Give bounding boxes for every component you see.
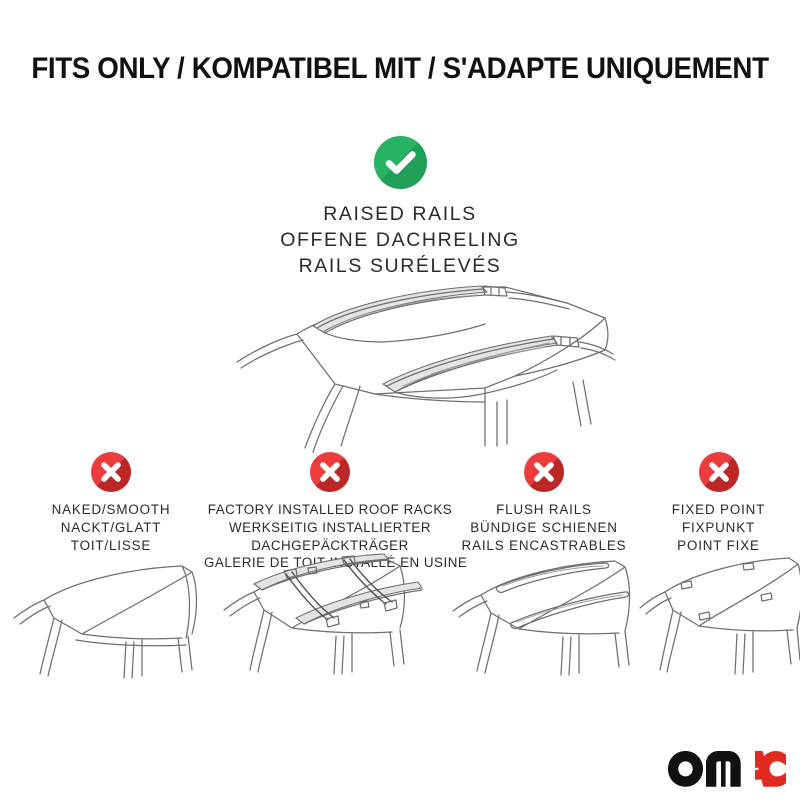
label-en: FLUSH RAILS (449, 501, 639, 519)
compatible-labels: RAISED RAILS OFFENE DACHRELING RAILS SUR… (0, 202, 800, 280)
label-fr: RAILS ENCASTRABLES (449, 537, 639, 555)
label-de: BÜNDIGE SCHIENEN (449, 519, 639, 537)
incompatible-item-naked-smooth: NAKED/SMOOTH NACKT/GLATT TOIT/LISSE (6, 452, 216, 554)
check-circle-icon (374, 136, 427, 189)
label-en: NAKED/SMOOTH (6, 501, 216, 519)
car-roof-flush-rails-illustration (449, 555, 639, 677)
incompatible-item-fixed-point: FIXED POINT FIXPUNKT POINT FIXE (637, 452, 800, 554)
x-circle-icon (310, 452, 350, 492)
x-circle-icon (91, 452, 131, 492)
page-title: FITS ONLY / KOMPATIBEL MIT / S'ADAPTE UN… (24, 52, 776, 86)
incompatible-item-factory-installed-roof-racks: FACTORY INSTALLED ROOF RACKS WERKSEITIG … (204, 452, 456, 572)
x-circle-icon (524, 452, 564, 492)
compatible-label-de: OFFENE DACHRELING (0, 228, 800, 254)
x-circle-icon (699, 452, 739, 492)
incompatible-section: NAKED/SMOOTH NACKT/GLATT TOIT/LISSE (0, 452, 800, 692)
compatible-label-en: RAISED RAILS (0, 202, 800, 228)
label-de-1: WERKSEITIG INSTALLIERTER (204, 519, 456, 537)
car-roof-smooth-illustration (6, 560, 216, 680)
label-de: FIXPUNKT (637, 519, 800, 537)
label-fr: TOIT/LISSE (6, 537, 216, 555)
incompatible-labels: FLUSH RAILS BÜNDIGE SCHIENEN RAILS ENCAS… (449, 501, 639, 554)
label-de: NACKT/GLATT (6, 519, 216, 537)
incompatible-item-flush-rails: FLUSH RAILS BÜNDIGE SCHIENEN RAILS ENCAS… (449, 452, 639, 554)
compatible-section: RAISED RAILS OFFENE DACHRELING RAILS SUR… (0, 136, 800, 280)
omac-logo (666, 749, 788, 789)
incompatible-labels: NAKED/SMOOTH NACKT/GLATT TOIT/LISSE (6, 501, 216, 554)
label-en: FIXED POINT (637, 501, 800, 519)
incompatible-labels: FIXED POINT FIXPUNKT POINT FIXE (637, 501, 800, 554)
car-roof-with-raised-rails-illustration (185, 276, 625, 456)
label-en: FACTORY INSTALLED ROOF RACKS (204, 501, 456, 519)
car-roof-with-crossbars-illustration (204, 550, 456, 678)
car-roof-fixed-points-illustration (637, 552, 800, 676)
